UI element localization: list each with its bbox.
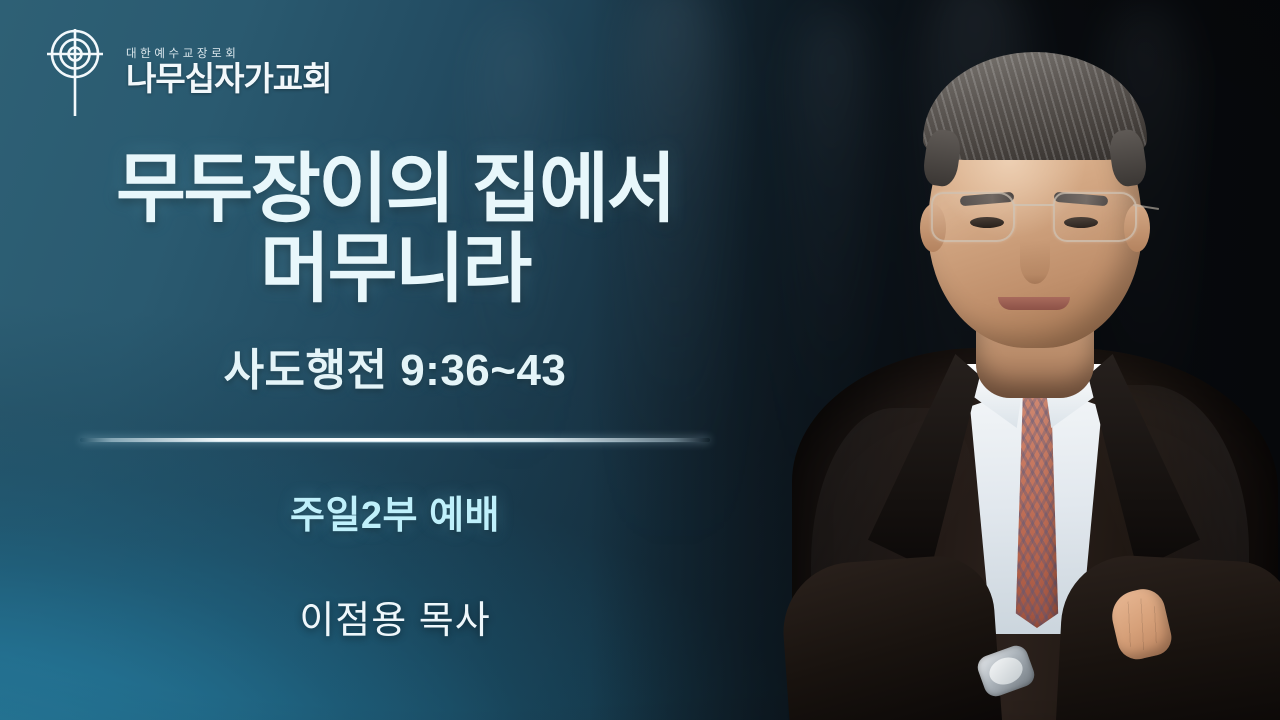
divider-line: [80, 438, 710, 442]
sermon-title-line-2: 머무니라: [0, 230, 790, 310]
sermon-title-line-1: 무두장이의 집에서: [116, 147, 674, 232]
mouth: [998, 297, 1070, 310]
sermon-title: 무두장이의 집에서 머무니라: [0, 150, 790, 310]
speaker-portrait: [774, 0, 1280, 720]
lens-left: [931, 192, 1015, 242]
hair: [923, 52, 1147, 160]
scripture-reference: 사도행전 9:36~43: [224, 334, 567, 398]
sermon-info-block: 무두장이의 집에서 머무니라 사도행전 9:36~43 주일2부 예배 이점용 …: [0, 0, 790, 720]
service-name: 주일2부 예배: [290, 484, 500, 539]
nose: [1020, 240, 1050, 284]
crossed-arm-left: [779, 552, 1002, 720]
sermon-title-card: 대한예수교장로회 나무십자가교회 무두장이의 집에서 머무니라 사도행전 9:3…: [0, 0, 1280, 720]
glasses-bridge: [1014, 204, 1054, 206]
lens-right: [1053, 192, 1137, 242]
preacher-name: 이점용 목사: [299, 589, 490, 644]
